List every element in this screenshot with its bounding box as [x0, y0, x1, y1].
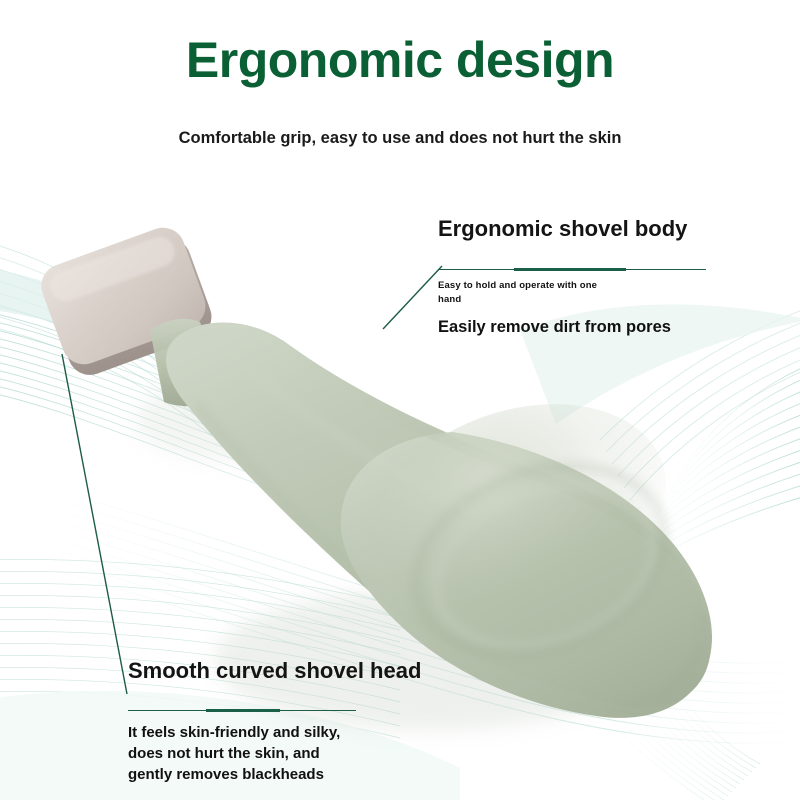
callout-heading-shovel-head: Smooth curved shovel head	[128, 658, 378, 683]
callout-body-text-shovel-head: It feels skin-friendly and silky,does no…	[128, 723, 368, 785]
callout-smooth-curved-shovel-head: Smooth curved shovel head It feels skin-…	[128, 658, 378, 785]
callout-heading-shovel-body: Ergonomic shovel body	[438, 216, 718, 241]
divider-accent-segment	[206, 709, 280, 712]
callout-note-small-shovel-body: Easy to hold and operate with one hand	[438, 279, 623, 307]
page-subtitle: Comfortable grip, easy to use and does n…	[0, 129, 800, 148]
page-title: Ergonomic design	[0, 34, 800, 87]
callout-ergonomic-shovel-body: Ergonomic shovel body Easy to hold and o…	[438, 216, 718, 338]
product-feature-graphic: Ergonomic design Comfortable grip, easy …	[0, 0, 800, 800]
divider-accent-segment	[514, 268, 626, 271]
callout-body-line: It feels skin-friendly and silky,	[128, 723, 368, 744]
callout-divider-shovel-body	[438, 268, 706, 271]
callout-divider-shovel-head	[128, 709, 356, 712]
callout-note-bold-shovel-body: Easily remove dirt from pores	[438, 317, 718, 338]
callout-body-line: gently removes blackheads	[128, 765, 368, 786]
callout-body-line: does not hurt the skin, and	[128, 744, 368, 765]
